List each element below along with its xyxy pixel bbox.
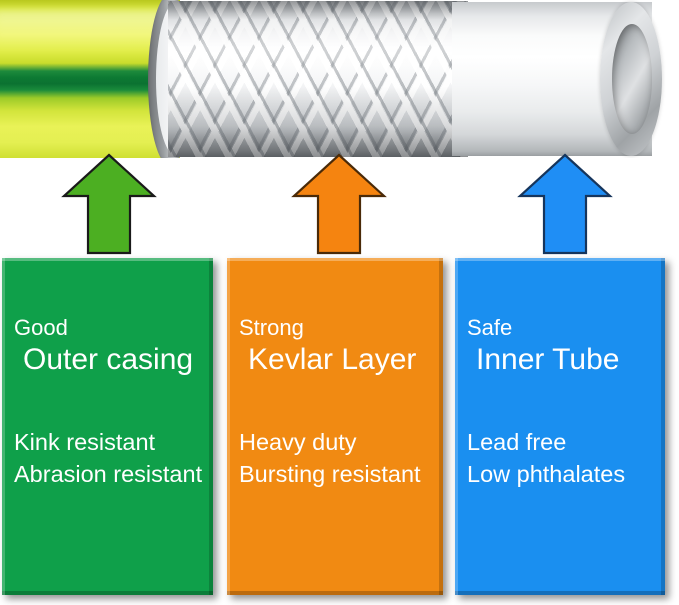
box-heading-group: Good Outer casing — [2, 314, 213, 379]
box-qualifier: Strong — [239, 314, 437, 341]
feature-box-inner-tube[interactable]: Safe Inner Tube Lead free Low phthalates — [455, 258, 665, 595]
box-feature: Lead free — [467, 426, 659, 458]
box-qualifier: Good — [14, 314, 207, 341]
box-feature: Bursting resistant — [239, 458, 437, 490]
box-heading-group: Strong Kevlar Layer — [227, 314, 443, 379]
feature-box-kevlar-layer[interactable]: Strong Kevlar Layer Heavy duty Bursting … — [227, 258, 443, 595]
hose-cutaway-photo — [0, 0, 679, 158]
box-heading-group: Safe Inner Tube — [455, 314, 665, 379]
box-feature-group: Lead free Low phthalates — [455, 426, 665, 490]
box-title: Outer casing — [14, 341, 207, 379]
braid-cylinder-shading — [168, 1, 468, 157]
feature-box-outer-casing[interactable]: Good Outer casing Kink resistant Abrasio… — [2, 258, 213, 595]
kevlar-braid-layer — [168, 1, 468, 157]
green-arrow — [61, 152, 157, 256]
box-feature: Low phthalates — [467, 458, 659, 490]
hose-cutaway-infographic: { "image": { "subject": "three-layer gar… — [0, 0, 679, 605]
box-qualifier: Safe — [467, 314, 659, 341]
orange-arrow — [291, 152, 387, 256]
box-feature-group: Kink resistant Abrasion resistant — [2, 426, 213, 490]
box-feature-group: Heavy duty Bursting resistant — [227, 426, 443, 490]
box-title: Inner Tube — [467, 341, 659, 379]
inner-tube-bore — [612, 24, 652, 134]
box-title: Kevlar Layer — [239, 341, 437, 379]
blue-arrow — [517, 152, 613, 256]
box-feature: Kink resistant — [14, 426, 207, 458]
box-feature: Heavy duty — [239, 426, 437, 458]
box-feature: Abrasion resistant — [14, 458, 207, 490]
